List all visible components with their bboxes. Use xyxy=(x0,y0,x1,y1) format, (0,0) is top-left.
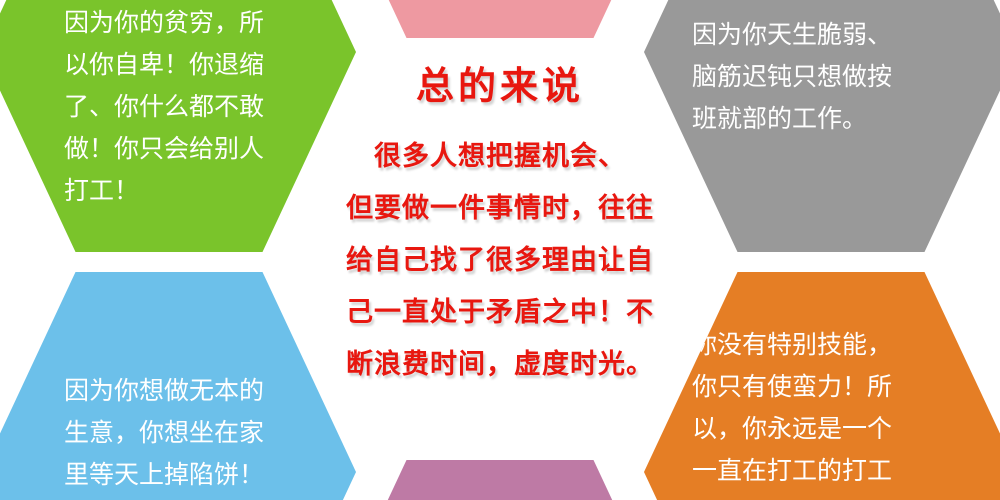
infographic-canvas: 因为你的贫穷，所 以你自卑！你退缩 了、你什么都不敢 做！你只会给别人 打工！ … xyxy=(0,0,1000,500)
hexagon-top-center-pink xyxy=(313,0,687,38)
hexagon-bottom-left-text: 因为你想做无本的 生意，你想坐在家 里等天上掉陷饼！ xyxy=(0,272,336,496)
hexagon-top-left-text: 因为你的贫穷，所 以你自卑！你退缩 了、你什么都不敢 做！你只会给别人 打工！ xyxy=(0,0,336,212)
center-message-block: 总的来说 很多人想把握机会、 但要做一件事情时，往往 给自己找了很多理由让自 己… xyxy=(300,62,700,390)
center-title: 总的来说 xyxy=(300,62,700,112)
hexagon-bottom-center-purple xyxy=(313,460,687,500)
center-body-text: 很多人想把握机会、 但要做一件事情时，往往 给自己找了很多理由让自 己一直处于矛… xyxy=(300,130,700,390)
